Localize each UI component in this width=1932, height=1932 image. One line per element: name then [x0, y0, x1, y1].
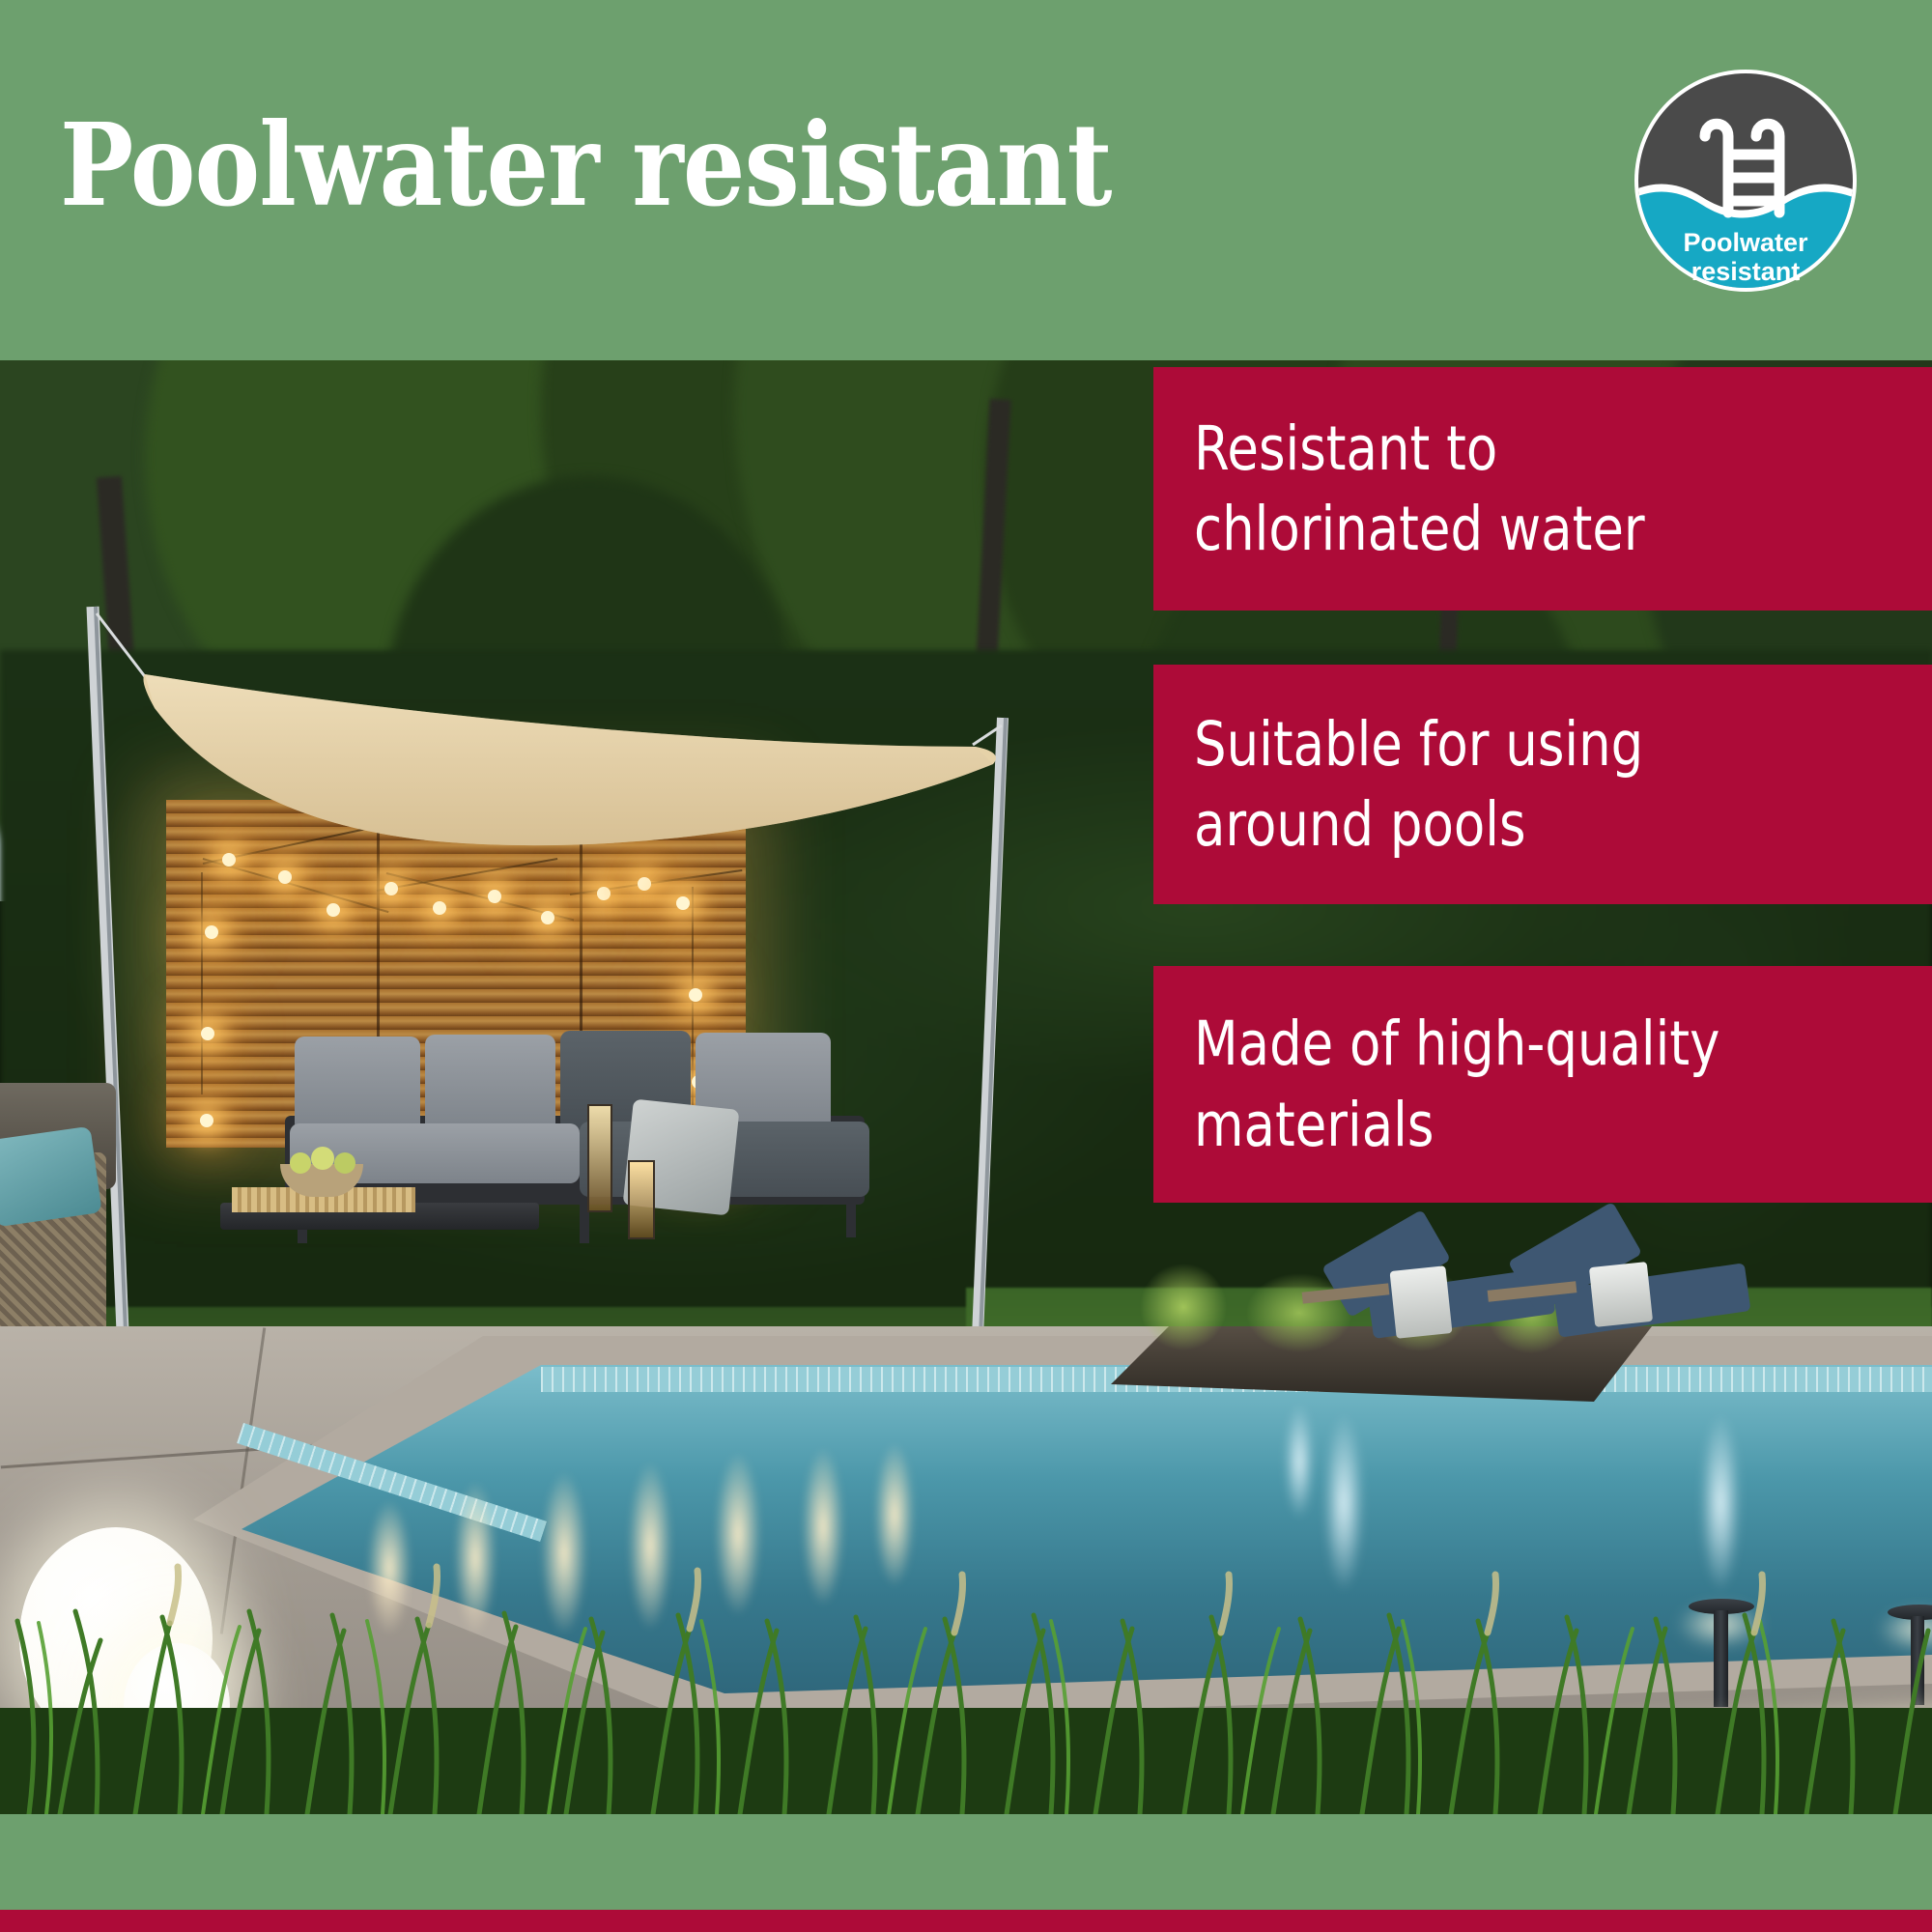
- footer-green-band: [0, 1814, 1932, 1910]
- ornamental-grass: [1140, 1264, 1227, 1350]
- lounge-chair-towel: [1589, 1262, 1653, 1327]
- fruit: [290, 1152, 311, 1174]
- string-light-bulb: [201, 1027, 214, 1040]
- lantern-short: [628, 1160, 655, 1239]
- fruit: [311, 1147, 334, 1170]
- sofa-backrest-cushion: [425, 1035, 555, 1133]
- badge-svg: Poolwater resistant: [1631, 66, 1861, 296]
- poolwater-resistant-badge: Poolwater resistant: [1631, 66, 1861, 296]
- string-light-bulb: [278, 870, 292, 884]
- header-band: Poolwater resistant: [0, 0, 1932, 360]
- callout-text: Suitable for using around pools: [1153, 704, 1689, 865]
- lounge-chair-towel: [1390, 1265, 1453, 1339]
- callout-text: Made of high-quality materials: [1153, 1004, 1765, 1164]
- string-light-bulb: [488, 890, 501, 903]
- sofa-backrest-cushion: [295, 1037, 420, 1133]
- string-light-bulb: [384, 882, 398, 895]
- lantern-tall: [587, 1104, 612, 1212]
- sofa-leg: [846, 1197, 856, 1237]
- string-light-bulb: [327, 903, 340, 917]
- badge-line1: Poolwater: [1683, 228, 1808, 257]
- string-light-bulb: [689, 988, 702, 1002]
- string-light-bulb: [200, 1114, 213, 1127]
- string-light-bulb: [433, 901, 446, 915]
- foreground-grasses: [0, 1495, 1932, 1814]
- cushion-teal: [0, 1126, 102, 1227]
- string-light-bulb: [676, 896, 690, 910]
- badge-line2: resistant: [1691, 257, 1801, 286]
- string-light-bulb: [205, 925, 218, 939]
- callout-text: Resistant to chlorinated water: [1153, 409, 1690, 569]
- string-light-bulb: [597, 887, 611, 900]
- fruit: [334, 1152, 355, 1174]
- callout-resistant-chlorinated-water[interactable]: Resistant to chlorinated water: [1153, 367, 1932, 611]
- callout-high-quality-materials[interactable]: Made of high-quality materials: [1153, 966, 1932, 1203]
- string-light-bulb: [638, 877, 651, 891]
- page-title: Poolwater resistant: [60, 108, 1112, 222]
- poster: Poolwater resistant: [0, 0, 1932, 1932]
- string-light-wire: [201, 872, 203, 1094]
- string-light-bulb: [222, 853, 236, 867]
- footer-red-band: [0, 1910, 1932, 1932]
- callout-suitable-around-pools[interactable]: Suitable for using around pools: [1153, 665, 1932, 904]
- string-light-bulb: [541, 911, 554, 924]
